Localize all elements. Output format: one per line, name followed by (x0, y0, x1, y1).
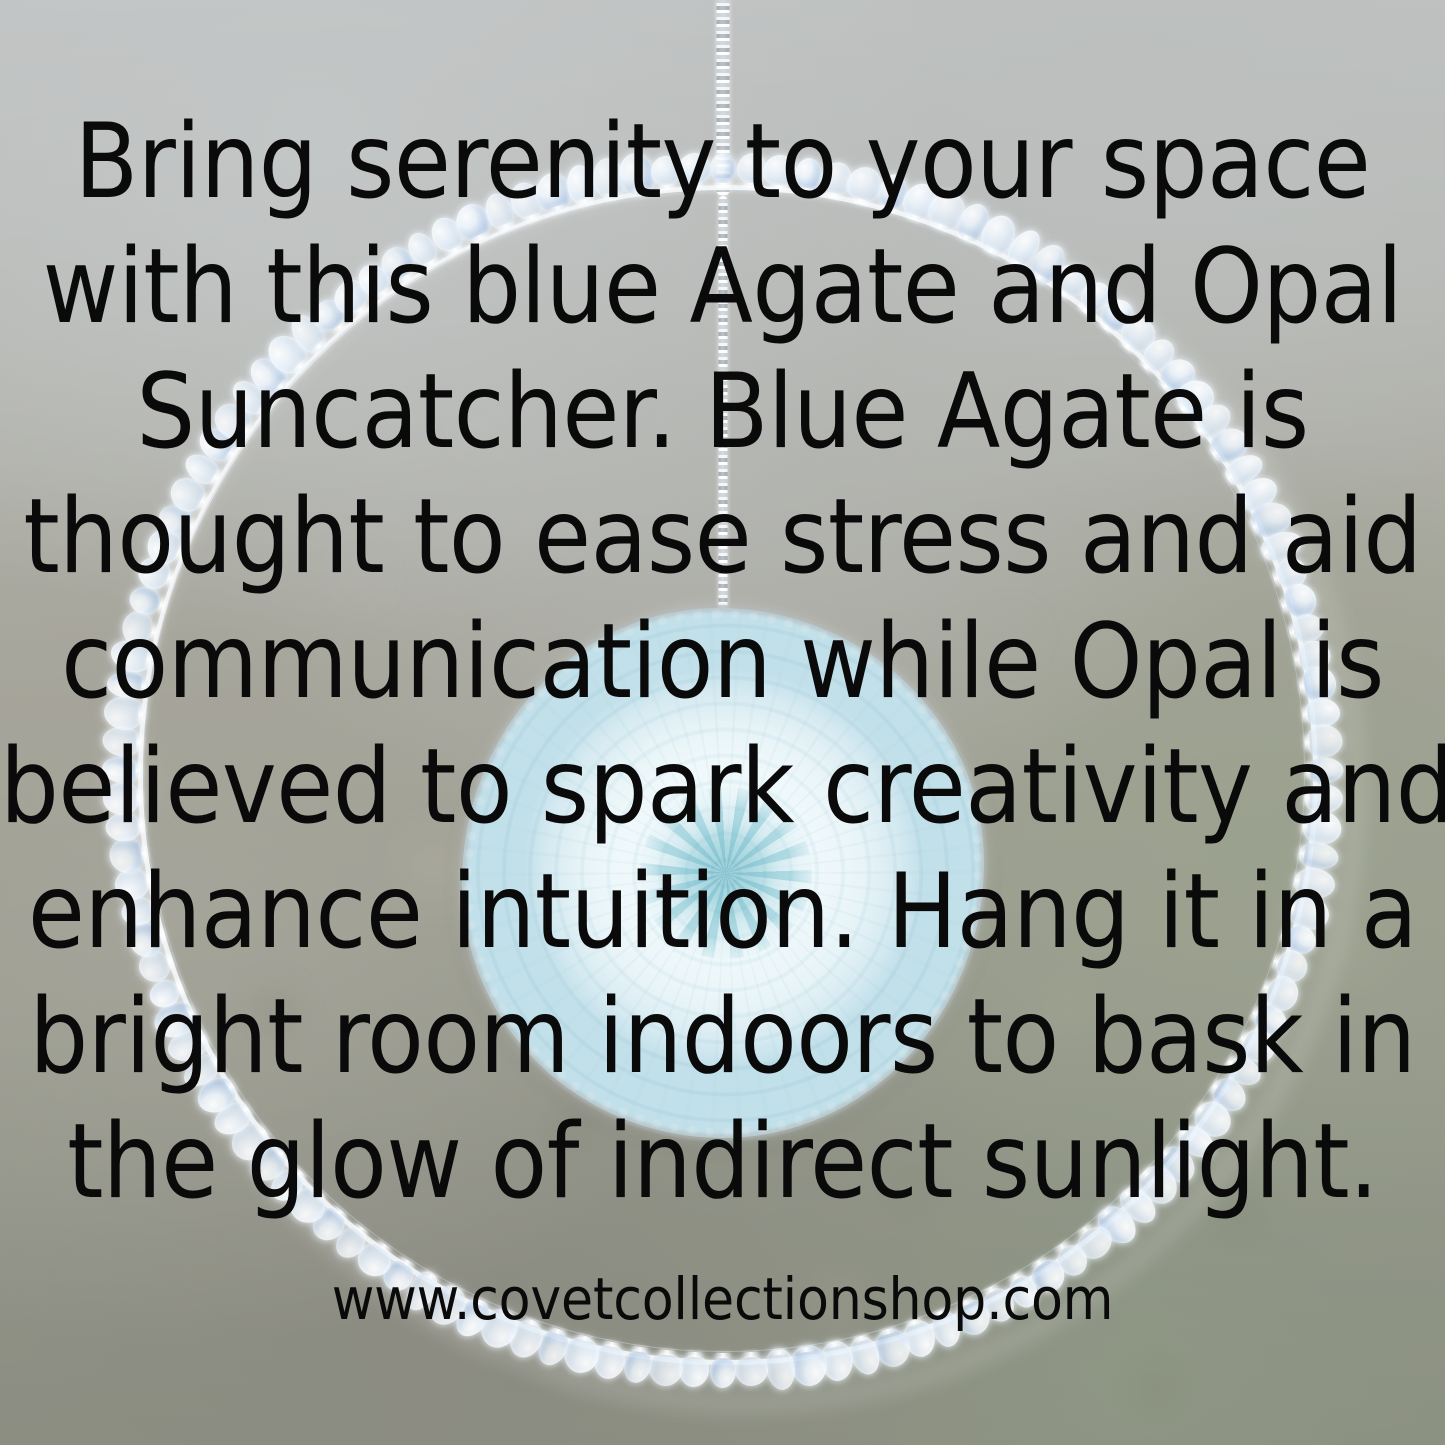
copy-line: thought to ease stress and aid (0, 475, 1445, 600)
product-image-canvas: Bring serenity to your space with this b… (0, 0, 1445, 1445)
copy-line: communication while Opal is (0, 600, 1445, 725)
copy-line: Suncatcher. Blue Agate is (0, 350, 1445, 475)
copy-line: bright room indoors to bask in (0, 975, 1445, 1100)
copy-line: believed to spark creativity and (0, 725, 1445, 850)
marketing-copy: Bring serenity to your space with this b… (0, 100, 1445, 1225)
copy-line: Bring serenity to your space (0, 100, 1445, 225)
website-url: www.covetcollectionshop.com (0, 1268, 1445, 1330)
copy-line: with this blue Agate and Opal (0, 225, 1445, 350)
copy-line: the glow of indirect sunlight. (0, 1100, 1445, 1225)
copy-line: enhance intuition. Hang it in a (0, 850, 1445, 975)
